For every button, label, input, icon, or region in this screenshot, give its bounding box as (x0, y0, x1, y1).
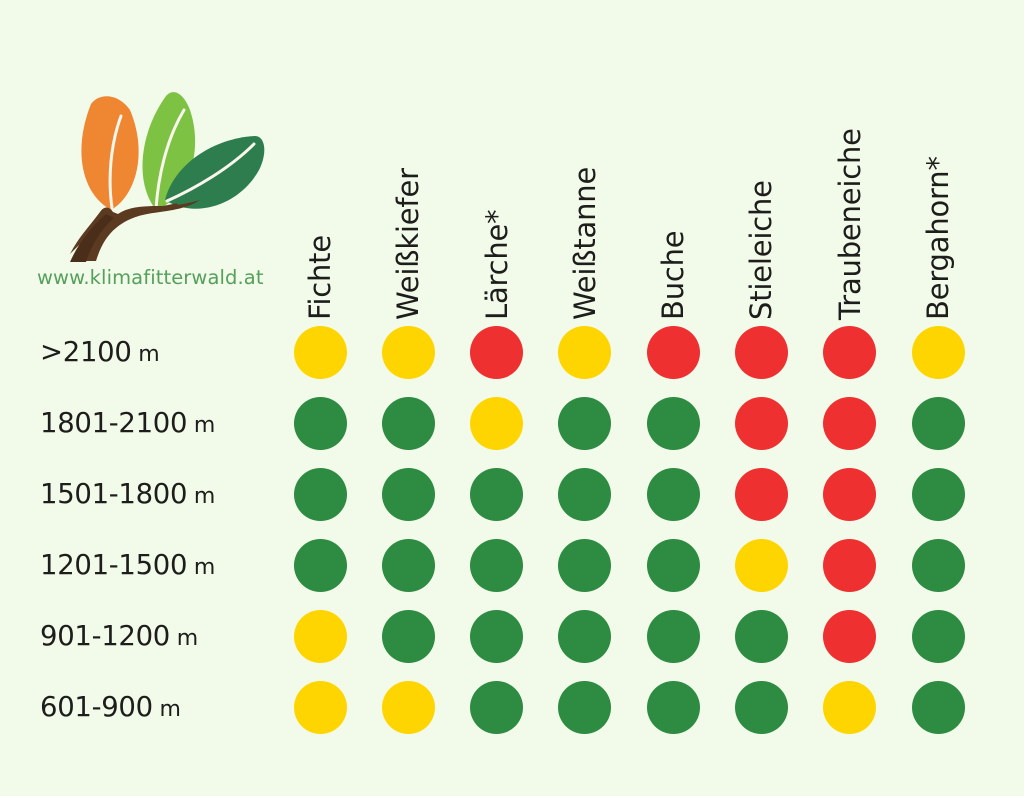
suitability-dot-green (912, 610, 965, 663)
suitability-dot-yellow (294, 326, 347, 379)
suitability-dot-green (912, 468, 965, 521)
suitability-dot-yellow (558, 326, 611, 379)
suitability-dot-red (735, 397, 788, 450)
suitability-dot-green (912, 397, 965, 450)
suitability-dot-green (647, 397, 700, 450)
suitability-dot-red (823, 326, 876, 379)
suitability-dot-yellow (912, 326, 965, 379)
suitability-dot-yellow (735, 539, 788, 592)
suitability-dot-green (382, 397, 435, 450)
suitability-dot-green (558, 468, 611, 521)
suitability-dot-green (735, 610, 788, 663)
suitability-dot-green (647, 539, 700, 592)
suitability-dot-green (294, 539, 347, 592)
suitability-dot-green (647, 610, 700, 663)
suitability-dot-yellow (294, 681, 347, 734)
suitability-dot-green (382, 468, 435, 521)
suitability-dot-yellow (382, 326, 435, 379)
suitability-dot-green (558, 681, 611, 734)
suitability-dot-green (470, 468, 523, 521)
suitability-dot-green (294, 397, 347, 450)
suitability-dot-green (558, 539, 611, 592)
suitability-dot-green (912, 539, 965, 592)
suitability-dot-red (823, 539, 876, 592)
suitability-dot-green (470, 610, 523, 663)
suitability-dot-yellow (294, 610, 347, 663)
suitability-matrix-figure: www.klimafitterwald.at FichteWeißkieferL… (0, 0, 1024, 796)
suitability-dot-red (823, 610, 876, 663)
suitability-dot-green (735, 681, 788, 734)
suitability-dot-green (294, 468, 347, 521)
suitability-dot-green (558, 397, 611, 450)
suitability-dot-green (382, 610, 435, 663)
suitability-dot-green (470, 681, 523, 734)
suitability-dot-green (647, 468, 700, 521)
suitability-dot-yellow (470, 397, 523, 450)
suitability-dot-red (647, 326, 700, 379)
suitability-dot-red (735, 326, 788, 379)
dot-grid (0, 0, 1024, 796)
suitability-dot-red (470, 326, 523, 379)
suitability-dot-green (912, 681, 965, 734)
suitability-dot-green (470, 539, 523, 592)
suitability-dot-red (823, 468, 876, 521)
suitability-dot-yellow (823, 681, 876, 734)
suitability-dot-green (382, 539, 435, 592)
suitability-dot-red (735, 468, 788, 521)
suitability-dot-yellow (382, 681, 435, 734)
suitability-dot-green (558, 610, 611, 663)
suitability-dot-green (647, 681, 700, 734)
suitability-dot-red (823, 397, 876, 450)
